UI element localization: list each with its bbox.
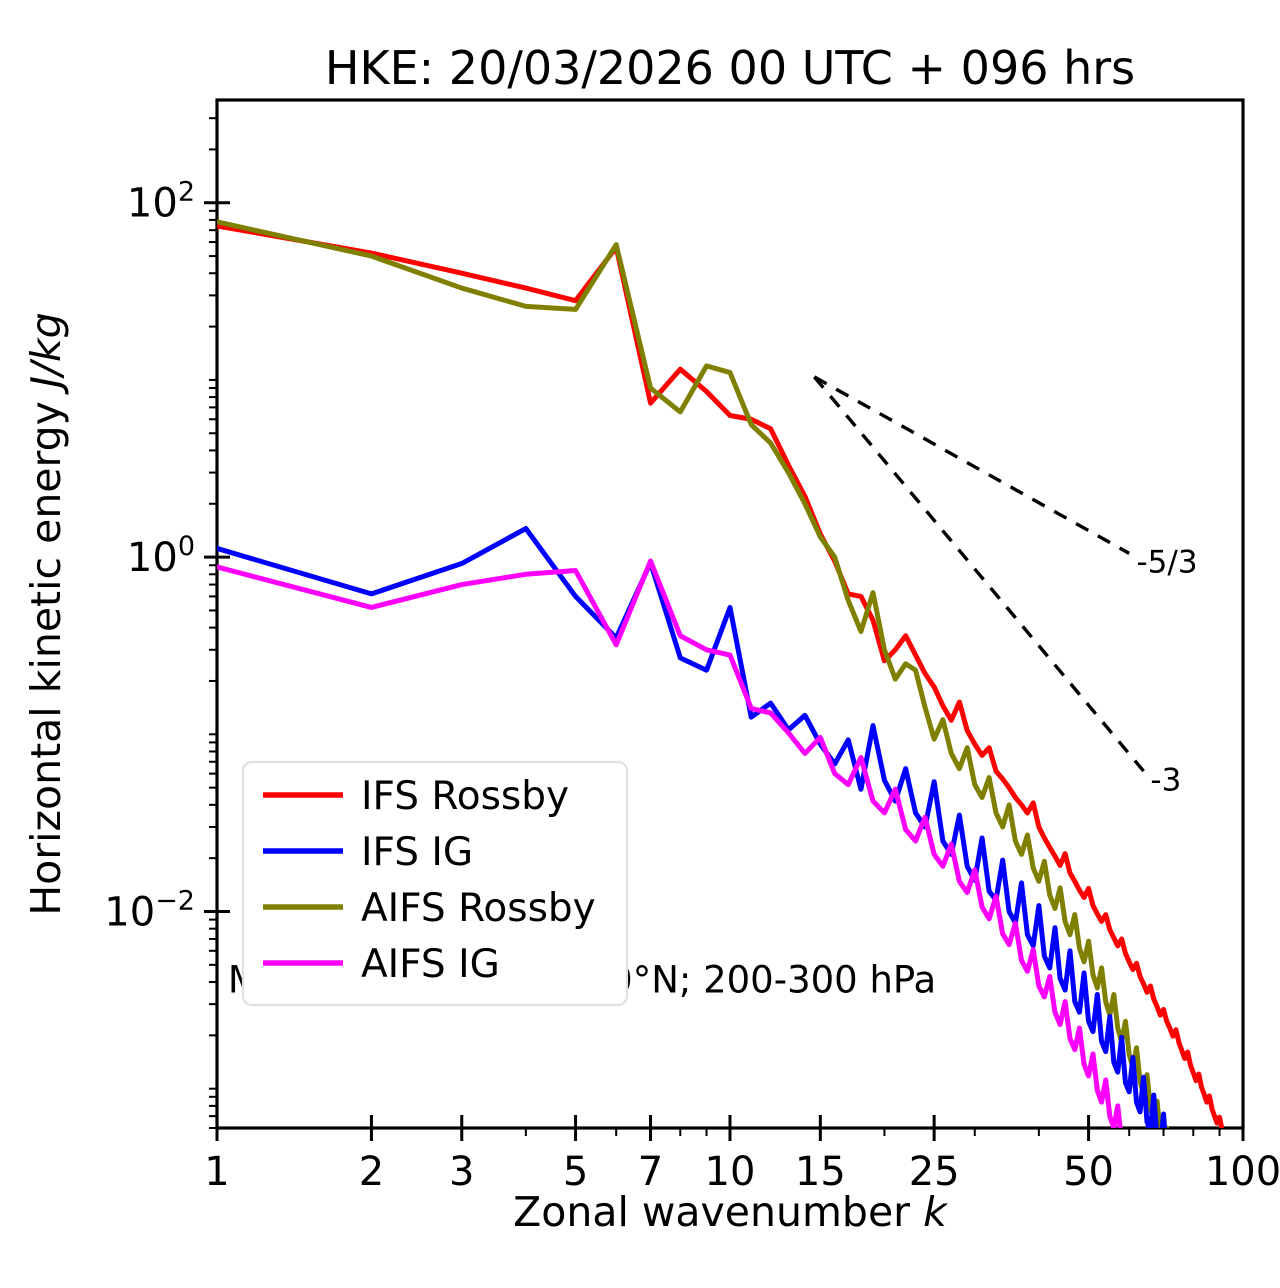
y-axis-ticks: 10210010−2 — [104, 118, 230, 1128]
hke-spectrum-chart: HKE: 20/03/2026 00 UTC + 096 hrs 1235710… — [0, 0, 1280, 1288]
x-tick-label: 2 — [359, 1149, 384, 1195]
legend-label-aifs-rossby: AIFS Rossby — [361, 886, 596, 931]
chart-title-group: HKE: 20/03/2026 00 UTC + 096 hrs — [325, 41, 1135, 95]
slope-label-minus-three: -3 — [1150, 762, 1181, 798]
x-tick-label: 3 — [449, 1149, 474, 1195]
y-tick-label: 102 — [127, 177, 195, 227]
legend-label-aifs-ig: AIFS IG — [361, 942, 500, 987]
x-tick-label: 1 — [204, 1149, 229, 1195]
chart-legend: IFS RossbyIFS IGAIFS RossbyAIFS IG — [243, 762, 627, 1005]
page-title: HKE: 20/03/2026 00 UTC + 096 hrs — [325, 41, 1135, 95]
x-tick-label: 50 — [1063, 1149, 1114, 1195]
legend-label-ifs-rossby: IFS Rossby — [361, 774, 569, 819]
y-axis-label: Horizontal kinetic energy J/kg — [22, 312, 70, 915]
slope-label-five-thirds: -5/3 — [1136, 545, 1197, 581]
y-tick-label: 10−2 — [104, 885, 195, 935]
x-axis-label: Zonal wavenumber k — [513, 1188, 949, 1236]
legend-label-ifs-ig: IFS IG — [361, 830, 473, 875]
y-tick-label: 100 — [127, 531, 195, 581]
x-tick-label: 100 — [1205, 1149, 1280, 1195]
figure-canvas: HKE: 20/03/2026 00 UTC + 096 hrs 1235710… — [0, 0, 1280, 1288]
